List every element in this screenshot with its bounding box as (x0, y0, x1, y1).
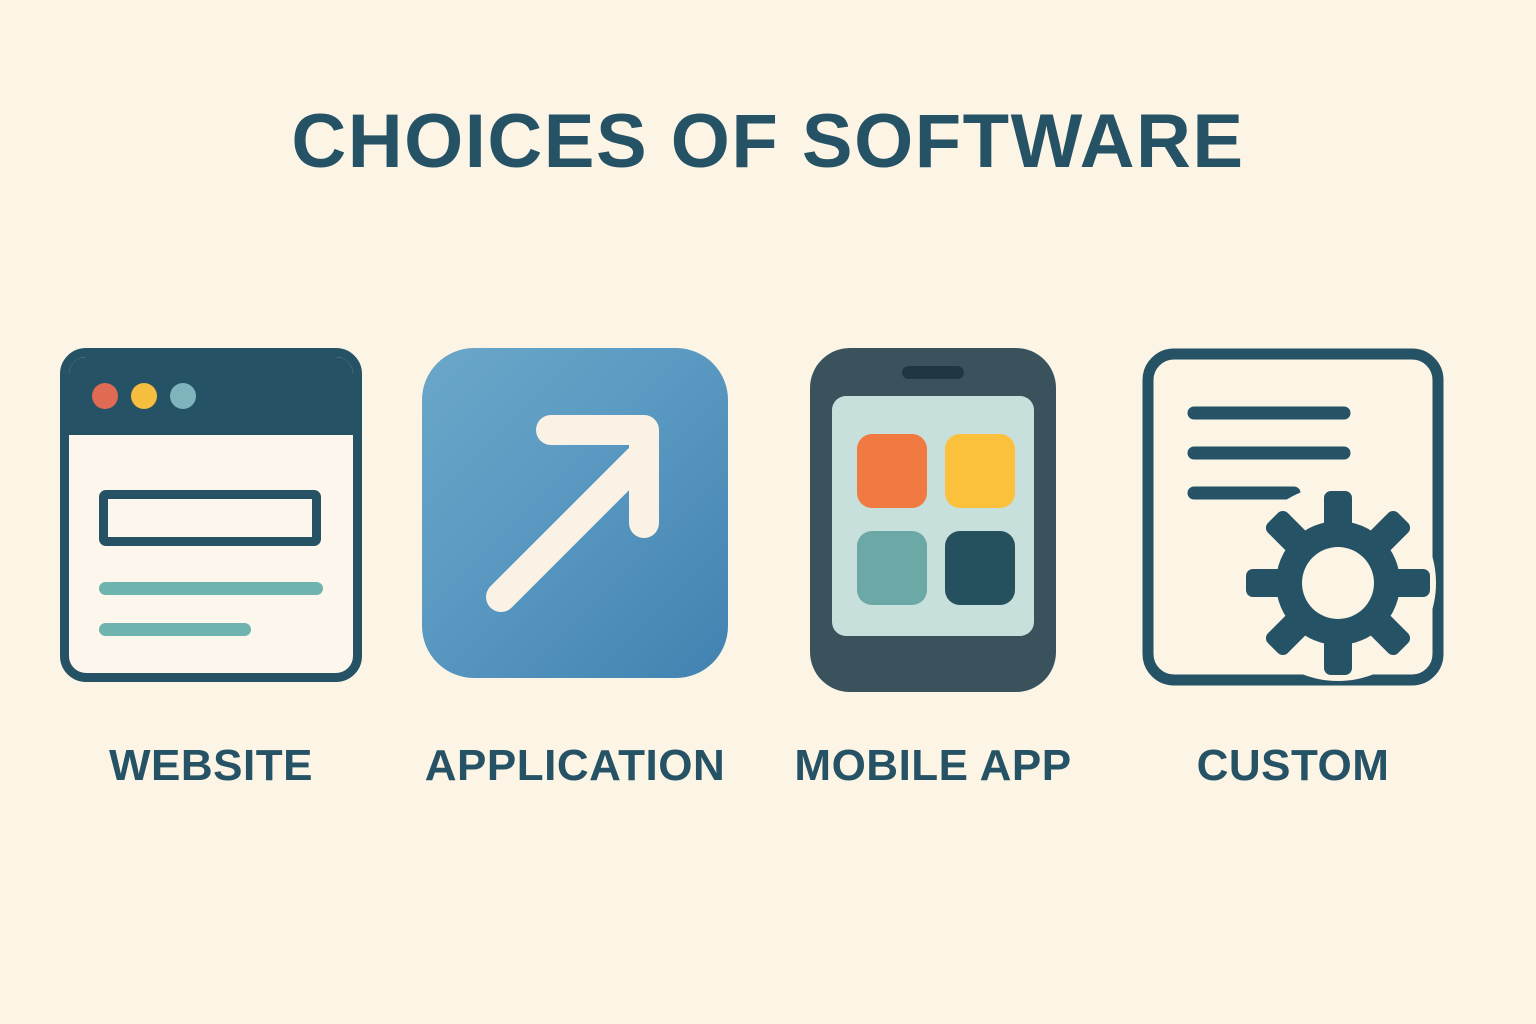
browser-window-icon (60, 348, 362, 682)
document-gear-icon (1142, 348, 1444, 686)
browser-text-line (99, 582, 323, 595)
app-tile-yellow (945, 434, 1015, 508)
phone-screen (832, 396, 1034, 636)
choice-card-custom[interactable]: CUSTOM (1142, 348, 1444, 686)
choice-label-application: APPLICATION (425, 744, 725, 788)
arrow-up-right-icon (422, 348, 728, 678)
document-outline (1142, 348, 1444, 686)
browser-text-line (99, 623, 251, 636)
app-tile-teal (857, 531, 927, 605)
choice-card-application[interactable]: APPLICATION (422, 348, 728, 678)
traffic-light-red-icon (92, 383, 118, 409)
phone-speaker-icon (902, 366, 964, 379)
choice-card-mobile-app[interactable]: MOBILE APP (810, 348, 1056, 692)
choice-label-custom: CUSTOM (1197, 744, 1390, 788)
page-title: CHOICES OF SOFTWARE (0, 104, 1536, 180)
browser-content-box (99, 490, 321, 546)
choice-label-mobile-app: MOBILE APP (794, 744, 1071, 788)
application-tile (422, 348, 728, 678)
traffic-light-teal-icon (170, 383, 196, 409)
software-choices-row: WEBSITE APPLICATION (0, 348, 1536, 808)
choice-label-website: WEBSITE (109, 744, 313, 788)
infographic-page: CHOICES OF SOFTWARE WEBSITE (0, 0, 1536, 1024)
browser-titlebar (69, 357, 353, 435)
traffic-light-yellow-icon (131, 383, 157, 409)
app-tile-orange (857, 434, 927, 508)
choice-card-website[interactable]: WEBSITE (60, 348, 362, 682)
browser-frame (60, 348, 362, 682)
application-tile-icon (422, 348, 728, 678)
smartphone-icon (810, 348, 1056, 692)
document-gear-shape (1142, 348, 1444, 686)
gear-icon (1246, 491, 1430, 675)
phone-body (810, 348, 1056, 692)
app-tile-dark (945, 531, 1015, 605)
